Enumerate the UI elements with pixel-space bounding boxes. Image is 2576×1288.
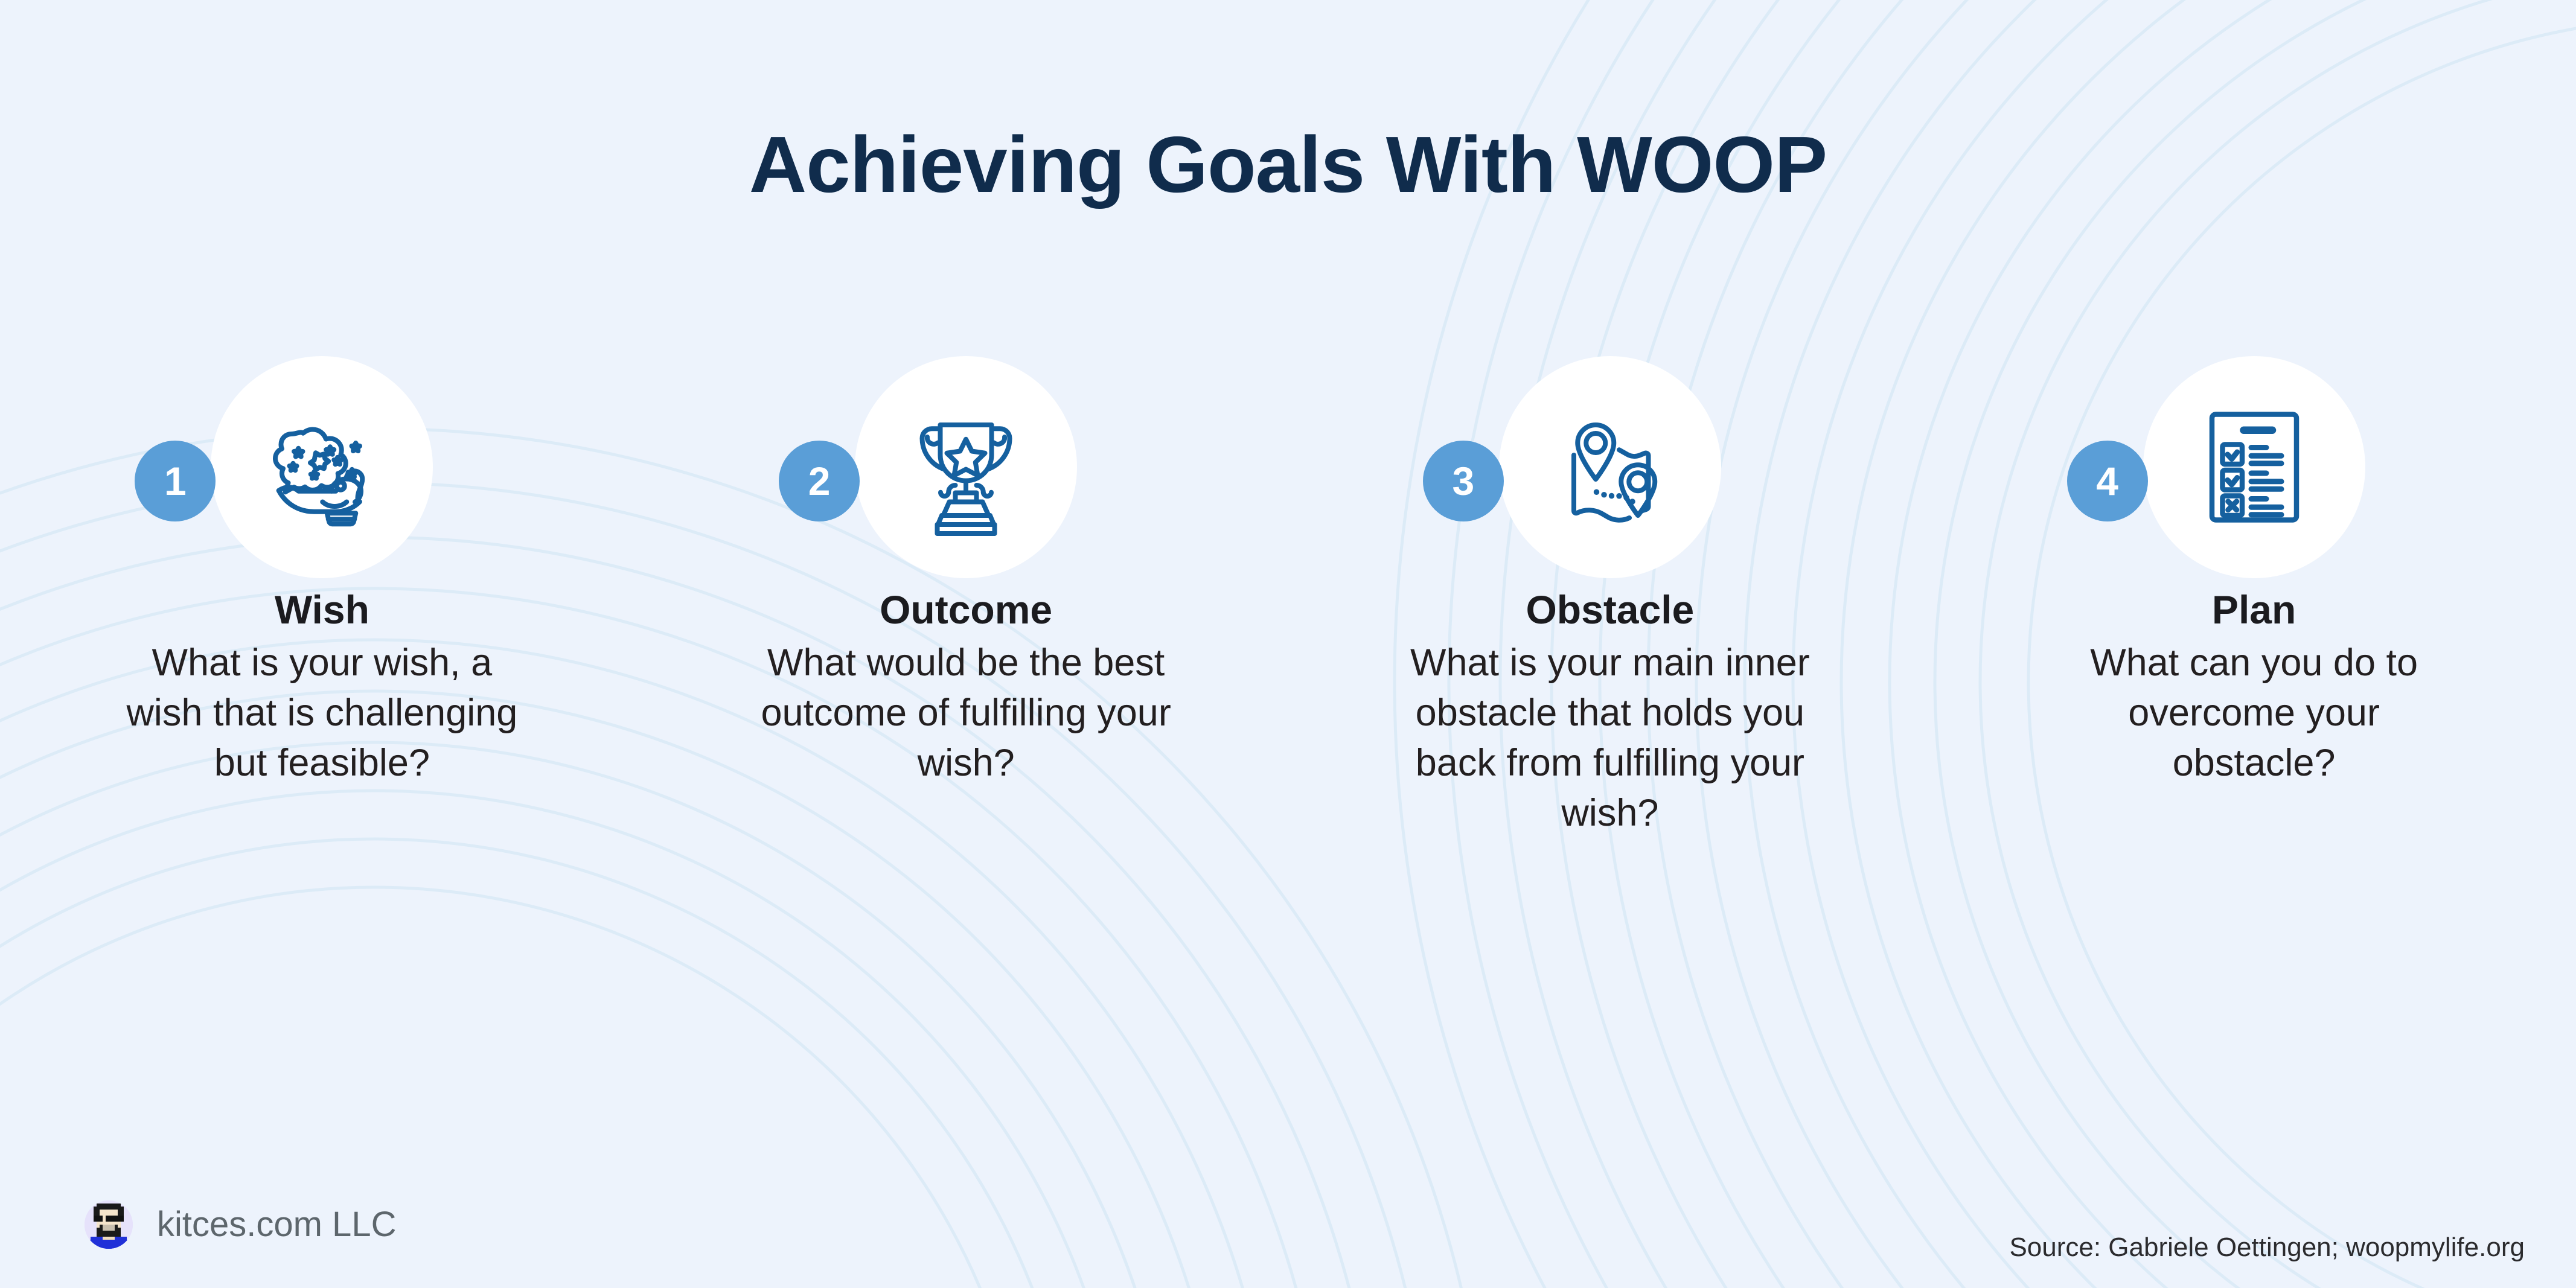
step-card-obstacle: 3 Obstacle What is your main inner obsta… xyxy=(1288,329,1932,839)
step-icon-stack: 4 xyxy=(2085,329,2423,570)
step-number-badge: 3 xyxy=(1423,441,1504,521)
step-number-badge: 2 xyxy=(779,441,860,521)
genie-lamp-icon xyxy=(211,356,433,578)
woop-steps-row: 1 Wish What is your wish, a wish that is… xyxy=(0,329,2576,839)
checklist-clipboard-icon xyxy=(2143,356,2365,578)
step-body-text: What would be the best outcome of fulfil… xyxy=(727,638,1204,788)
step-number-badge: 1 xyxy=(135,441,216,521)
step-number-badge: 4 xyxy=(2067,441,2148,521)
step-icon-stack: 2 xyxy=(797,329,1135,570)
pixel-avatar-icon xyxy=(85,1200,133,1249)
step-icon-stack: 3 xyxy=(1441,329,1779,570)
page-title: Achieving Goals With WOOP xyxy=(0,121,2576,208)
map-route-icon xyxy=(1499,356,1721,578)
step-icon-stack: 1 xyxy=(153,329,491,570)
step-heading: Plan xyxy=(2212,587,2296,633)
step-body-text: What is your main inner obstacle that ho… xyxy=(1372,638,1849,839)
step-body-text: What is your wish, a wish that is challe… xyxy=(113,638,530,788)
brand-name: kitces.com LLC xyxy=(157,1207,396,1242)
source-attribution: Source: Gabriele Oettingen; woopmylife.o… xyxy=(2009,1234,2525,1261)
infographic-canvas: Achieving Goals With WOOP xyxy=(0,0,2576,1288)
step-heading: Wish xyxy=(275,587,369,633)
step-card-wish: 1 Wish What is your wish, a wish that is… xyxy=(0,329,644,788)
trophy-icon xyxy=(855,356,1077,578)
footer-brand: kitces.com LLC xyxy=(85,1200,396,1249)
step-heading: Obstacle xyxy=(1526,587,1694,633)
step-heading: Outcome xyxy=(880,587,1052,633)
step-card-plan: 4 Plan What can you do to overcome your … xyxy=(1932,329,2576,788)
step-card-outcome: 2 Outcome What would be the best outcome… xyxy=(644,329,1288,788)
step-body-text: What can you do to overcome your obstacl… xyxy=(2073,638,2435,788)
